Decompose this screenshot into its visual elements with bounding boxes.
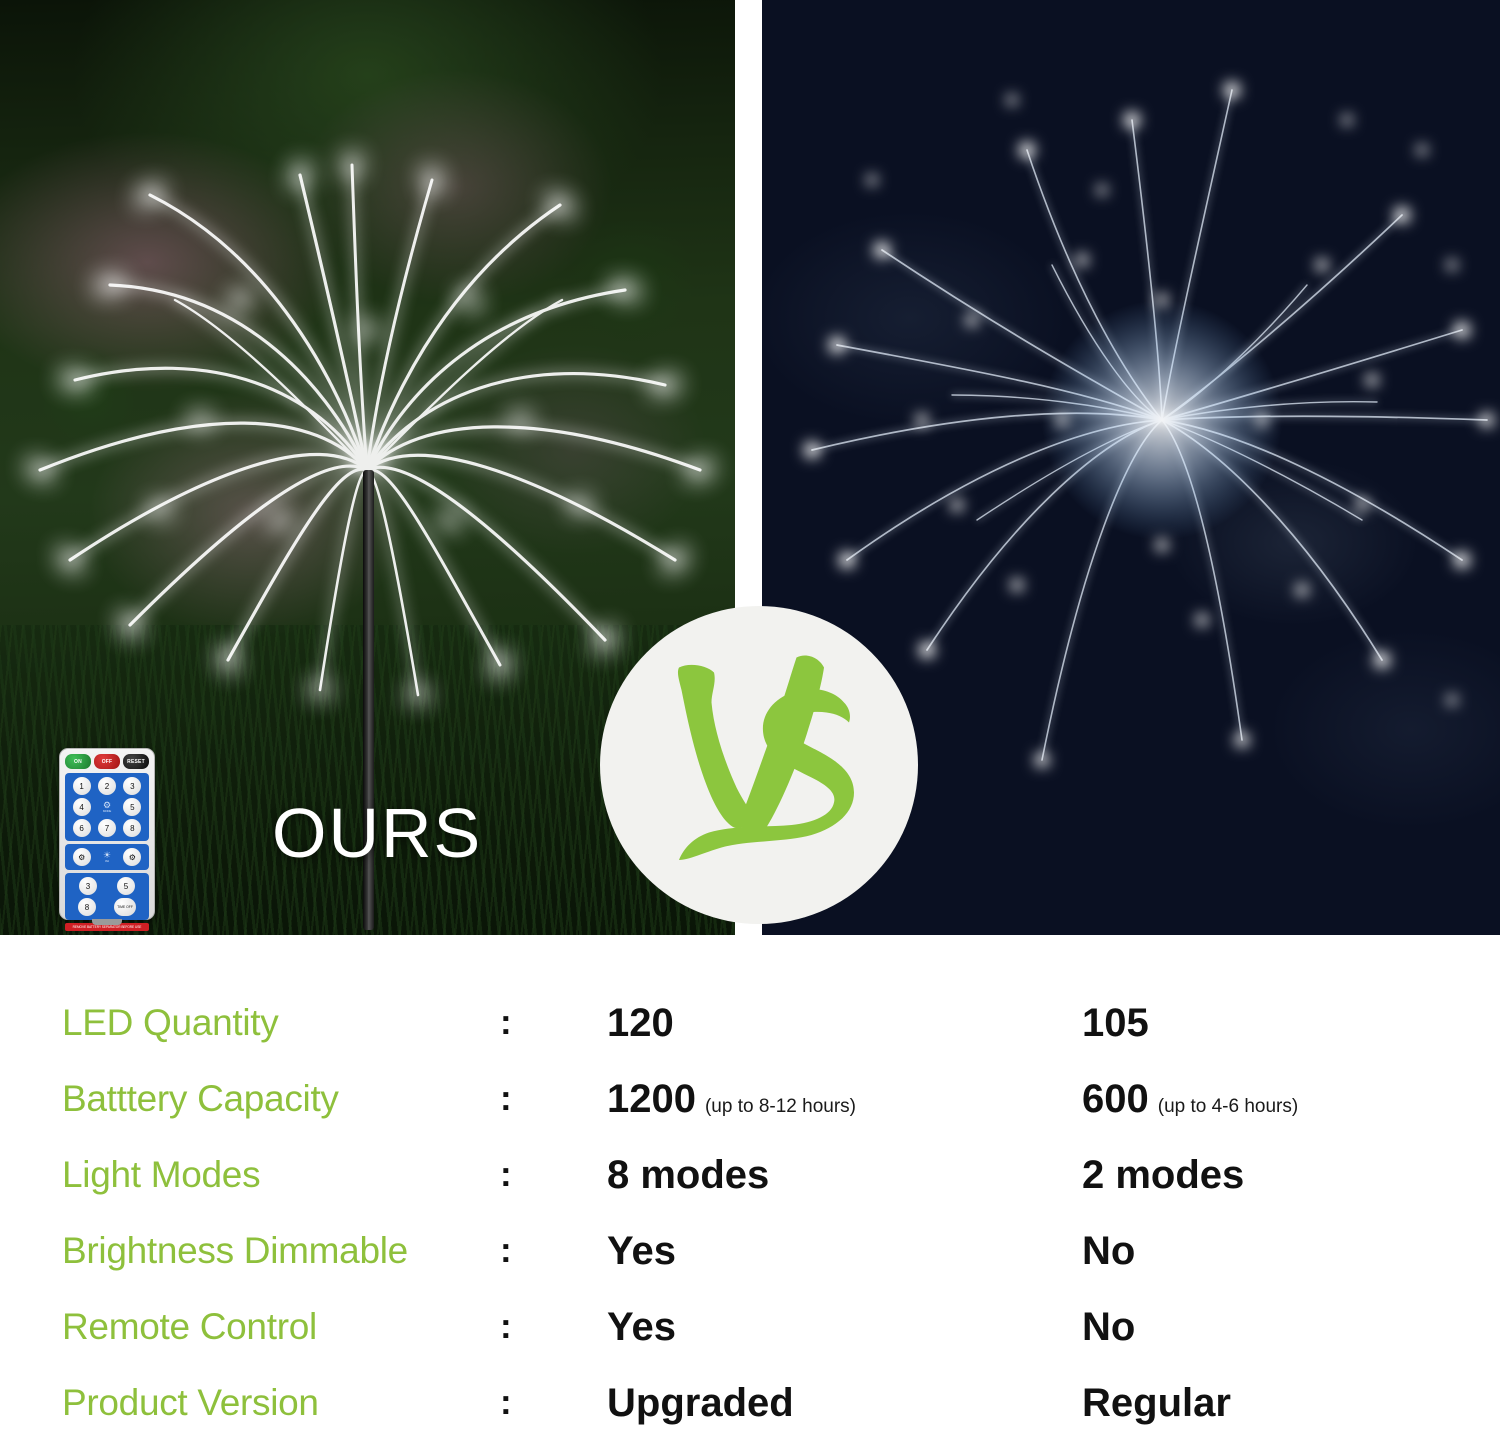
key-1[interactable]: 1: [73, 777, 91, 795]
row-colon: :: [500, 1155, 540, 1195]
value-text: Yes: [607, 1229, 676, 1274]
dim-down-gear-icon[interactable]: ⚙: [73, 848, 91, 866]
row-value-others: 600 (up to 4-6 hours): [1082, 1077, 1482, 1122]
row-value-others: 2 modes: [1082, 1153, 1482, 1198]
row-label-product-version: Product Version: [62, 1382, 492, 1424]
row-value-others: No: [1082, 1229, 1482, 1274]
key-4[interactable]: 4: [73, 798, 91, 816]
remote-keypad-bottom: 3 5 8 TIME OFF: [65, 873, 149, 920]
value-text: 120: [607, 1001, 674, 1046]
row-label-battery-capacity: Batttery Capacity: [62, 1078, 492, 1120]
row-value-others: No: [1082, 1305, 1482, 1350]
key-8-lower[interactable]: 8: [78, 898, 96, 916]
row-label-led-quantity: LED Quantity: [62, 1002, 492, 1044]
value-note: (up to 8-12 hours): [705, 1096, 856, 1118]
table-row: Product Version : Upgraded Regular: [0, 1367, 1500, 1439]
keypad-row: ⚙ ☀8H ⚙: [69, 848, 145, 866]
row-value-ours: Yes: [607, 1305, 1027, 1350]
row-value-ours: 8 modes: [607, 1153, 1027, 1198]
value-text: 2 modes: [1082, 1153, 1244, 1198]
table-row: Batttery Capacity : 1200 (up to 8-12 hou…: [0, 1063, 1500, 1135]
key-3-lower[interactable]: 3: [79, 877, 97, 895]
on-button[interactable]: ON: [65, 754, 91, 769]
value-text: 8 modes: [607, 1153, 769, 1198]
value-text: Yes: [607, 1305, 676, 1350]
row-label-remote-control: Remote Control: [62, 1306, 492, 1348]
row-value-others: 105: [1082, 1001, 1482, 1046]
table-row: Remote Control : Yes No: [0, 1291, 1500, 1363]
table-row: Light Modes : 8 modes 2 modes: [0, 1139, 1500, 1211]
row-value-ours: 120: [607, 1001, 1027, 1046]
row-colon: :: [500, 1231, 540, 1271]
eight-hour-timer-icon[interactable]: ☀8H: [98, 848, 116, 866]
keypad-row: 6 7 8: [69, 819, 145, 837]
keypad-row: 1 2 3: [69, 777, 145, 795]
keypad-row: 8 TIME OFF: [69, 898, 145, 916]
off-button[interactable]: OFF: [94, 754, 120, 769]
value-text: 600: [1082, 1077, 1149, 1122]
row-colon: :: [500, 1307, 540, 1347]
value-text: No: [1082, 1229, 1135, 1274]
row-value-ours: 1200 (up to 8-12 hours): [607, 1077, 1027, 1122]
comparison-band: ON OFF RESET 1 2 3 4 ⚙MODE 5 6 7 8: [0, 0, 1500, 935]
keypad-row: 3 5: [69, 877, 145, 895]
value-text: 105: [1082, 1001, 1149, 1046]
key-8[interactable]: 8: [123, 819, 141, 837]
table-row: Brightness Dimmable : Yes No: [0, 1215, 1500, 1287]
key-5[interactable]: 5: [123, 798, 141, 816]
row-value-ours: Yes: [607, 1229, 1027, 1274]
vs-badge: [600, 606, 918, 924]
key-5-lower[interactable]: 5: [117, 877, 135, 895]
remote-stand-nub: [92, 919, 122, 925]
row-label-light-modes: Light Modes: [62, 1154, 492, 1196]
label-ours: OURS: [272, 793, 482, 873]
mode-gear-icon[interactable]: ⚙MODE: [98, 798, 116, 816]
row-colon: :: [500, 1079, 540, 1119]
remote-power-row: ON OFF RESET: [65, 754, 149, 769]
keypad-row: 4 ⚙MODE 5: [69, 798, 145, 816]
value-text: Upgraded: [607, 1381, 794, 1426]
key-7[interactable]: 7: [98, 819, 116, 837]
value-text: No: [1082, 1305, 1135, 1350]
reset-button[interactable]: RESET: [123, 754, 149, 769]
value-text: 1200: [607, 1077, 696, 1122]
row-value-ours: Upgraded: [607, 1381, 1027, 1426]
value-note: (up to 4-6 hours): [1158, 1096, 1298, 1118]
remote-keypad-dimmer: ⚙ ☀8H ⚙: [65, 844, 149, 870]
key-6[interactable]: 6: [73, 819, 91, 837]
key-3[interactable]: 3: [123, 777, 141, 795]
table-row: LED Quantity : 120 105: [0, 987, 1500, 1059]
key-2[interactable]: 2: [98, 777, 116, 795]
dim-up-gear-icon[interactable]: ⚙: [123, 848, 141, 866]
vs-brush-icon: [634, 640, 884, 890]
remote-control[interactable]: ON OFF RESET 1 2 3 4 ⚙MODE 5 6 7 8: [59, 748, 155, 920]
row-colon: :: [500, 1383, 540, 1423]
value-text: Regular: [1082, 1381, 1231, 1426]
remote-keypad-top: 1 2 3 4 ⚙MODE 5 6 7 8: [65, 773, 149, 841]
time-off-button[interactable]: TIME OFF: [114, 898, 136, 916]
row-label-brightness-dimmable: Brightness Dimmable: [62, 1230, 492, 1272]
row-colon: :: [500, 1003, 540, 1043]
spec-comparison-table: LED Quantity : 120 105 Batttery Capacity…: [0, 935, 1500, 1425]
row-value-others: Regular: [1082, 1381, 1482, 1426]
